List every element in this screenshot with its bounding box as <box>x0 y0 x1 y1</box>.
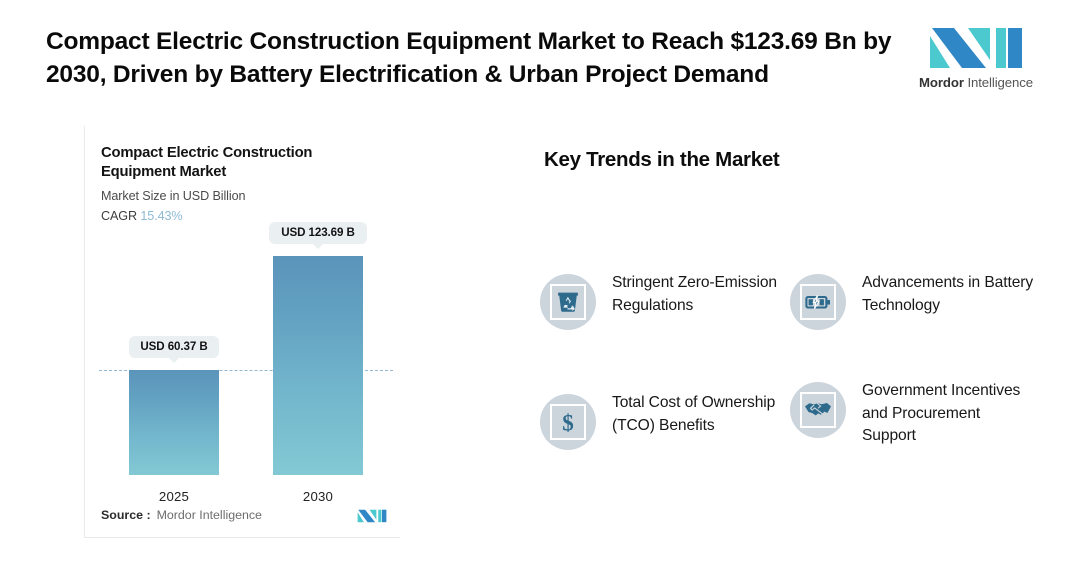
market-size-chart-card: Compact Electric Construction Equipment … <box>84 126 400 538</box>
svg-text:$: $ <box>562 411 574 436</box>
trend-item-government-incentives: Government Incentives and Procurement Su… <box>790 380 1040 448</box>
battery-charging-glyph <box>805 290 831 314</box>
mi-logo-mark-small <box>357 507 387 523</box>
recycle-bin-glyph <box>556 290 580 314</box>
bar-value-label-2030: USD 123.69 B <box>269 222 367 244</box>
recycle-bin-icon <box>550 284 586 320</box>
trend-icon-circle <box>790 382 846 438</box>
trend-label: Advancements in Battery Technology <box>862 272 1037 317</box>
battery-charging-icon <box>800 284 836 320</box>
brand-word-bold: Mordor <box>919 75 964 90</box>
handshake-icon <box>800 392 836 428</box>
source-name: Mordor Intelligence <box>157 508 262 522</box>
x-axis-label-2025: 2025 <box>129 489 219 504</box>
trend-item-zero-emission: Stringent Zero-Emission Regulations <box>540 272 790 330</box>
trend-item-tco-benefits: $ Total Cost of Ownership (TCO) Benefits <box>540 392 790 450</box>
trend-item-battery-technology: Advancements in Battery Technology <box>790 272 1040 330</box>
bar-plot-area: USD 60.37 B USD 123.69 B 2025 2030 <box>85 126 401 538</box>
handshake-glyph <box>804 399 832 421</box>
bar-2030 <box>273 256 363 475</box>
key-trends-title: Key Trends in the Market <box>544 148 779 172</box>
brand-word-light: Intelligence <box>967 75 1033 90</box>
mi-logo-mark <box>928 20 1024 70</box>
trend-label: Total Cost of Ownership (TCO) Benefits <box>612 392 787 437</box>
trend-icon-circle: $ <box>540 394 596 450</box>
key-trends-grid: Stringent Zero-Emission Regulations Adva… <box>540 272 1060 512</box>
dollar-sign-icon: $ <box>550 404 586 440</box>
source-label: Source : <box>101 508 151 522</box>
trend-label: Stringent Zero-Emission Regulations <box>612 272 787 317</box>
page-headline: Compact Electric Construction Equipment … <box>46 26 906 91</box>
mordor-intelligence-logo: Mordor Intelligence <box>926 20 1026 96</box>
infographic-page: Compact Electric Construction Equipment … <box>0 0 1069 565</box>
trend-icon-circle <box>790 274 846 330</box>
brand-wordmark: Mordor Intelligence <box>919 75 1033 90</box>
dollar-sign-glyph: $ <box>557 409 579 435</box>
trend-label: Government Incentives and Procurement Su… <box>862 380 1037 448</box>
bar-value-label-2025: USD 60.37 B <box>129 336 219 358</box>
x-axis-label-2030: 2030 <box>273 489 363 504</box>
trend-icon-circle <box>540 274 596 330</box>
source-row: Source : Mordor Intelligence <box>101 507 387 523</box>
bar-2025 <box>129 370 219 475</box>
